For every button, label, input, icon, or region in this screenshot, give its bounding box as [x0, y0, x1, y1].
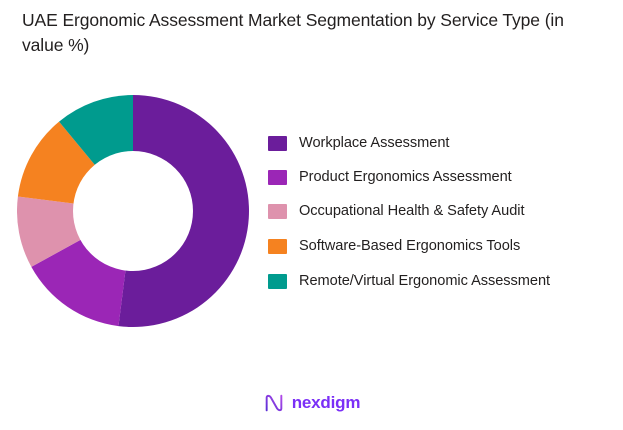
legend-item-workplace-assessment[interactable]: Workplace Assessment — [268, 133, 608, 153]
nexdigm-n-icon — [263, 392, 285, 414]
legend-swatch-product-ergonomics-assessment — [268, 170, 287, 185]
footer-branding: nexdigm — [0, 392, 623, 414]
legend-label-software-based-ergonomics-tools: Software-Based Ergonomics Tools — [299, 236, 520, 256]
legend-item-software-based-ergonomics-tools[interactable]: Software-Based Ergonomics Tools — [268, 236, 608, 256]
legend-item-occupational-health-safety-audit[interactable]: Occupational Health & Safety Audit — [268, 201, 608, 221]
legend-label-product-ergonomics-assessment: Product Ergonomics Assessment — [299, 167, 512, 187]
legend-label-occupational-health-safety-audit: Occupational Health & Safety Audit — [299, 201, 524, 221]
legend-item-remote-virtual-ergonomic-assessment[interactable]: Remote/Virtual Ergonomic Assessment — [268, 271, 608, 291]
donut-hole — [73, 151, 193, 271]
legend-swatch-software-based-ergonomics-tools — [268, 239, 287, 254]
legend-swatch-remote-virtual-ergonomic-assessment — [268, 274, 287, 289]
donut-chart-svg — [17, 95, 249, 327]
legend-swatch-occupational-health-safety-audit — [268, 204, 287, 219]
legend-swatch-workplace-assessment — [268, 136, 287, 151]
legend-item-product-ergonomics-assessment[interactable]: Product Ergonomics Assessment — [268, 167, 608, 187]
chart-legend: Workplace Assessment Product Ergonomics … — [268, 133, 608, 305]
legend-label-workplace-assessment: Workplace Assessment — [299, 133, 449, 153]
legend-label-remote-virtual-ergonomic-assessment: Remote/Virtual Ergonomic Assessment — [299, 271, 550, 291]
nexdigm-wordmark: nexdigm — [292, 393, 361, 413]
